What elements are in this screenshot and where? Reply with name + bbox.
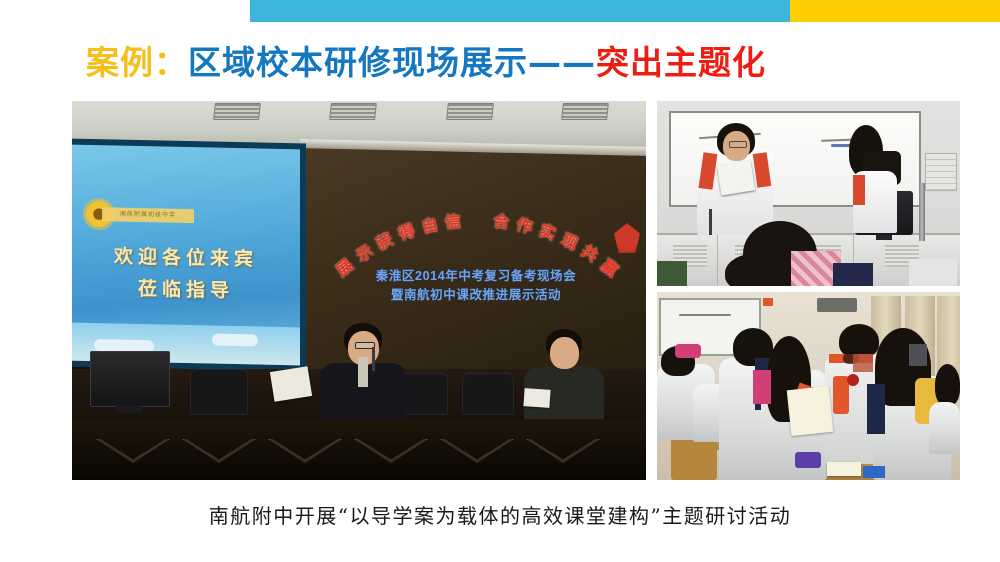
student-uniform [833, 263, 873, 286]
slide-canvas: 案例：区域校本研修现场展示——突出主题化 南航附属初级中学 欢迎各位来宾 莅临指… [0, 0, 1000, 562]
foreground-object [657, 261, 687, 286]
banner-arch-char: 自 [419, 211, 440, 238]
banner-subtitle-line2: 暨南航初中课改推进展示活动 [326, 286, 626, 305]
school-name-tag: 南航附属初级中学 [102, 207, 194, 223]
projection-screen-frame: 南航附属初级中学 欢迎各位来宾 莅临指导 [72, 139, 306, 372]
student-headband [675, 344, 701, 358]
title-prefix: 案例： [86, 43, 188, 82]
microphone-icon [372, 347, 375, 371]
topbar-blue-segment [250, 0, 790, 22]
monitor-stand [116, 405, 142, 413]
student-hair [935, 364, 960, 406]
banner-arch-char: 合 [492, 208, 511, 234]
wall-marker [763, 298, 773, 306]
banner-arch-char: 作 [514, 211, 535, 238]
chair [462, 373, 514, 415]
uniform-emblem-icon [847, 374, 859, 386]
title-highlight: 突出主题化 [596, 43, 766, 82]
ceiling-vent-icon [446, 103, 494, 120]
banner-arch-char: 现 [557, 226, 582, 255]
page-title: 案例：区域校本研修现场展示——突出主题化 [86, 41, 766, 85]
student-back-head [725, 253, 791, 286]
student-uniform [929, 402, 960, 454]
student-uniform [909, 259, 957, 286]
conference-table-front [72, 419, 646, 480]
tv-stand [876, 235, 892, 240]
wall-chart [925, 153, 957, 191]
school-name-text: 南航附属初级中学 [102, 207, 194, 223]
ceiling-vent-icon [329, 103, 377, 120]
distant-student [909, 344, 927, 366]
screen-welcome-line2: 莅临指导 [72, 273, 300, 305]
banner-arch-char: 实 [536, 217, 559, 245]
ceiling-projector [817, 298, 857, 312]
photo-classroom-presentation [657, 101, 960, 286]
projection-screen: 南航附属初级中学 欢迎各位来宾 莅临指导 [72, 145, 300, 366]
banner-arch-char: 共 [578, 238, 604, 267]
banner-arch-text: 展示获得自信 合作实现共赢 [318, 185, 636, 263]
slide-caption: 南航附中开展“以导学案为载体的高效课堂建构”主题研讨活动 [0, 500, 1000, 529]
top-decorative-bar [0, 0, 1000, 22]
desktop-monitor [90, 351, 170, 407]
pencil-case [795, 452, 821, 468]
topbar-yellow-segment [790, 0, 1000, 22]
worksheet [827, 462, 861, 476]
banner-arch-char: 获 [372, 226, 397, 255]
ceiling-vent-icon [213, 103, 261, 120]
banner-arch-char: 得 [395, 217, 418, 245]
banner-arch-char: 示 [350, 238, 376, 267]
camera-pole [919, 183, 925, 241]
banner-arch-char: 信 [444, 208, 463, 234]
banner-subtitle: 秦淮区2014年中考复习备考现场会 暨南航初中课改推进展示活动 [326, 267, 626, 305]
title-middle: 区域校本研修现场展示—— [188, 43, 596, 82]
chair [190, 369, 248, 415]
desk-item [863, 466, 885, 478]
photo-group-discussion [657, 292, 960, 480]
distant-student [853, 354, 873, 372]
screen-welcome-line1: 欢迎各位来宾 [72, 241, 300, 273]
banner-subtitle-line1: 秦淮区2014年中考复习备考现场会 [326, 267, 626, 286]
photo-meeting-hall: 南航附属初级中学 欢迎各位来宾 莅临指导 展示获得自信 合作实现共赢 秦淮区20… [72, 101, 646, 480]
ceiling-vent-icon [561, 103, 609, 120]
screen-cloud-shape [212, 334, 258, 347]
